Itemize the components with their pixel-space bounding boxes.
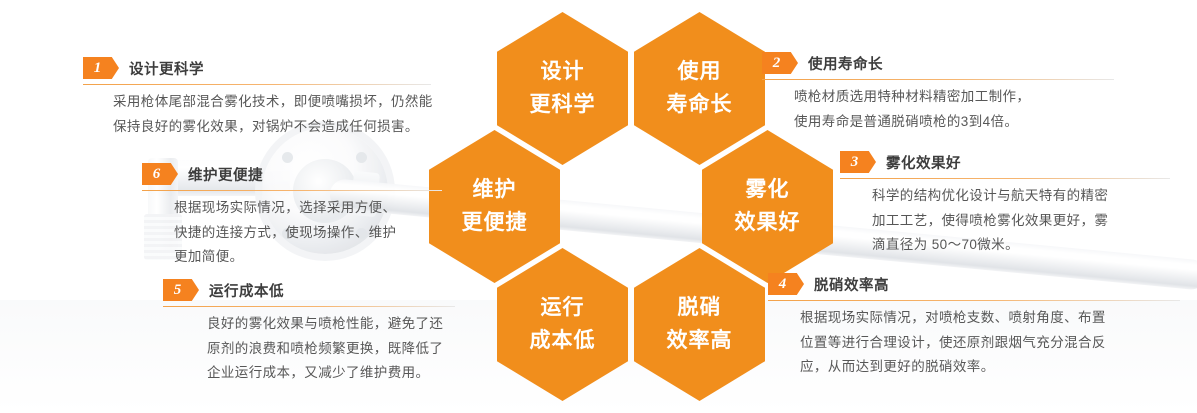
feature-2-title: 使用寿命长 bbox=[808, 53, 883, 74]
feature-3-body-line: 加工工艺，使得喷枪雾化效果更好，雾 bbox=[872, 209, 1170, 234]
feature-block-5: 5 运行成本低 良好的雾化效果与喷枪性能，避免了还 原剂的浪费和喷枪频繁更换，既… bbox=[163, 278, 455, 386]
number-badge-2-icon: 2 bbox=[762, 52, 798, 74]
feature-1-header: 1 设计更科学 bbox=[83, 56, 431, 80]
feature-4-body: 根据现场实际情况，对喷枪支数、喷射角度、布置 位置等进行合理设计，使还原剂跟烟气… bbox=[768, 306, 1180, 380]
feature-5-body-line: 企业运行成本，又减少了维护费用。 bbox=[207, 361, 455, 386]
feature-4-body-line: 位置等进行合理设计，使还原剂跟烟气充分混合反 bbox=[800, 331, 1180, 356]
feature-2-header: 2 使用寿命长 bbox=[762, 51, 1114, 75]
number-badge-1-icon: 1 bbox=[83, 57, 119, 79]
feature-3-body: 科学的结构优化设计与航天特有的精密 加工工艺，使得喷枪雾化效果更好，雾 滴直径为… bbox=[840, 184, 1170, 258]
feature-3-divider bbox=[840, 178, 1170, 179]
hexagon-maintenance-line2: 更便捷 bbox=[462, 207, 528, 240]
feature-5-title: 运行成本低 bbox=[209, 280, 284, 301]
number-badge-3-icon: 3 bbox=[840, 151, 876, 173]
feature-3-body-line: 科学的结构优化设计与航天特有的精密 bbox=[872, 184, 1170, 209]
number-badge-4-icon: 4 bbox=[768, 273, 804, 295]
feature-5-body-line: 原剂的浪费和喷枪频繁更换，既降低了 bbox=[207, 337, 455, 362]
feature-4-body-line: 应，从而达到更好的脱硝效率。 bbox=[800, 355, 1180, 380]
hexagon-lifespan-line1: 使用 bbox=[678, 56, 722, 89]
feature-2-divider bbox=[762, 79, 1114, 80]
hexagon-lifespan[interactable]: 使用 寿命长 bbox=[634, 12, 765, 165]
hexagon-design-line1: 设计 bbox=[541, 56, 585, 89]
feature-6-body: 根据现场实际情况，选择采用方便、 快捷的连接方式，使现场操作、维护 更加简便。 bbox=[142, 196, 442, 270]
feature-4-header: 4 脱硝效率高 bbox=[768, 272, 1180, 296]
feature-2-body-line: 喷枪材质选用特种材料精密加工制作， bbox=[794, 85, 1114, 110]
feature-1-body-line: 保持良好的雾化效果，对锅炉不会造成任何损害。 bbox=[113, 115, 431, 140]
feature-4-body-line: 根据现场实际情况，对喷枪支数、喷射角度、布置 bbox=[800, 306, 1180, 331]
feature-6-divider bbox=[142, 190, 442, 191]
infographic-canvas: 设计 更科学 使用 寿命长 维护 更便捷 雾化 效果好 运行 成本低 脱硝 效率… bbox=[0, 0, 1197, 413]
feature-3-header: 3 雾化效果好 bbox=[840, 150, 1170, 174]
feature-block-3: 3 雾化效果好 科学的结构优化设计与航天特有的精密 加工工艺，使得喷枪雾化效果更… bbox=[840, 150, 1170, 258]
feature-5-body-line: 良好的雾化效果与喷枪性能，避免了还 bbox=[207, 312, 455, 337]
feature-1-divider bbox=[83, 84, 431, 85]
feature-1-body: 采用枪体尾部混合雾化技术，即便喷嘴损坏，仍然能 保持良好的雾化效果，对锅炉不会造… bbox=[83, 90, 431, 139]
hexagon-atomization-line1: 雾化 bbox=[746, 174, 790, 207]
feature-6-body-line: 快捷的连接方式，使现场操作、维护 bbox=[174, 221, 442, 246]
feature-block-6: 6 维护更便捷 根据现场实际情况，选择采用方便、 快捷的连接方式，使现场操作、维… bbox=[142, 162, 442, 270]
hexagon-lifespan-line2: 寿命长 bbox=[667, 89, 733, 122]
hexagon-atomization[interactable]: 雾化 效果好 bbox=[702, 130, 833, 283]
feature-6-header: 6 维护更便捷 bbox=[142, 162, 442, 186]
feature-block-4: 4 脱硝效率高 根据现场实际情况，对喷枪支数、喷射角度、布置 位置等进行合理设计… bbox=[768, 272, 1180, 380]
feature-6-body-line: 更加简便。 bbox=[174, 245, 442, 270]
hexagon-atomization-line2: 效果好 bbox=[735, 207, 801, 240]
hexagon-maintenance[interactable]: 维护 更便捷 bbox=[429, 130, 560, 283]
feature-3-title: 雾化效果好 bbox=[886, 152, 961, 173]
feature-4-divider bbox=[768, 300, 1180, 301]
feature-block-1: 1 设计更科学 采用枪体尾部混合雾化技术，即便喷嘴损坏，仍然能 保持良好的雾化效… bbox=[83, 56, 431, 139]
hexagon-design-line2: 更科学 bbox=[530, 89, 596, 122]
feature-block-2: 2 使用寿命长 喷枪材质选用特种材料精密加工制作， 使用寿命是普通脱硝喷枪的3到… bbox=[762, 51, 1114, 134]
feature-5-header: 5 运行成本低 bbox=[163, 278, 455, 302]
feature-5-divider bbox=[163, 306, 455, 307]
feature-4-title: 脱硝效率高 bbox=[814, 274, 889, 295]
hexagon-denitration-line2: 效率高 bbox=[667, 325, 733, 358]
feature-6-title: 维护更便捷 bbox=[188, 164, 263, 185]
feature-1-body-line: 采用枪体尾部混合雾化技术，即便喷嘴损坏，仍然能 bbox=[113, 90, 431, 115]
feature-2-body-line: 使用寿命是普通脱硝喷枪的3到4倍。 bbox=[794, 110, 1114, 135]
feature-1-title: 设计更科学 bbox=[129, 58, 204, 79]
number-badge-5-icon: 5 bbox=[163, 279, 199, 301]
hexagon-design[interactable]: 设计 更科学 bbox=[497, 12, 628, 165]
feature-3-body-line: 滴直径为 50～70微米。 bbox=[872, 233, 1170, 258]
feature-6-body-line: 根据现场实际情况，选择采用方便、 bbox=[174, 196, 442, 221]
number-badge-6-icon: 6 bbox=[142, 163, 178, 185]
hexagon-denitration-line1: 脱硝 bbox=[678, 292, 722, 325]
hexagon-denitration[interactable]: 脱硝 效率高 bbox=[634, 248, 765, 401]
hexagon-cost[interactable]: 运行 成本低 bbox=[497, 248, 628, 401]
feature-5-body: 良好的雾化效果与喷枪性能，避免了还 原剂的浪费和喷枪频繁更换，既降低了 企业运行… bbox=[163, 312, 455, 386]
hexagon-cost-line2: 成本低 bbox=[530, 325, 596, 358]
feature-2-body: 喷枪材质选用特种材料精密加工制作， 使用寿命是普通脱硝喷枪的3到4倍。 bbox=[762, 85, 1114, 134]
hexagon-maintenance-line1: 维护 bbox=[473, 174, 517, 207]
hexagon-cost-line1: 运行 bbox=[541, 292, 585, 325]
